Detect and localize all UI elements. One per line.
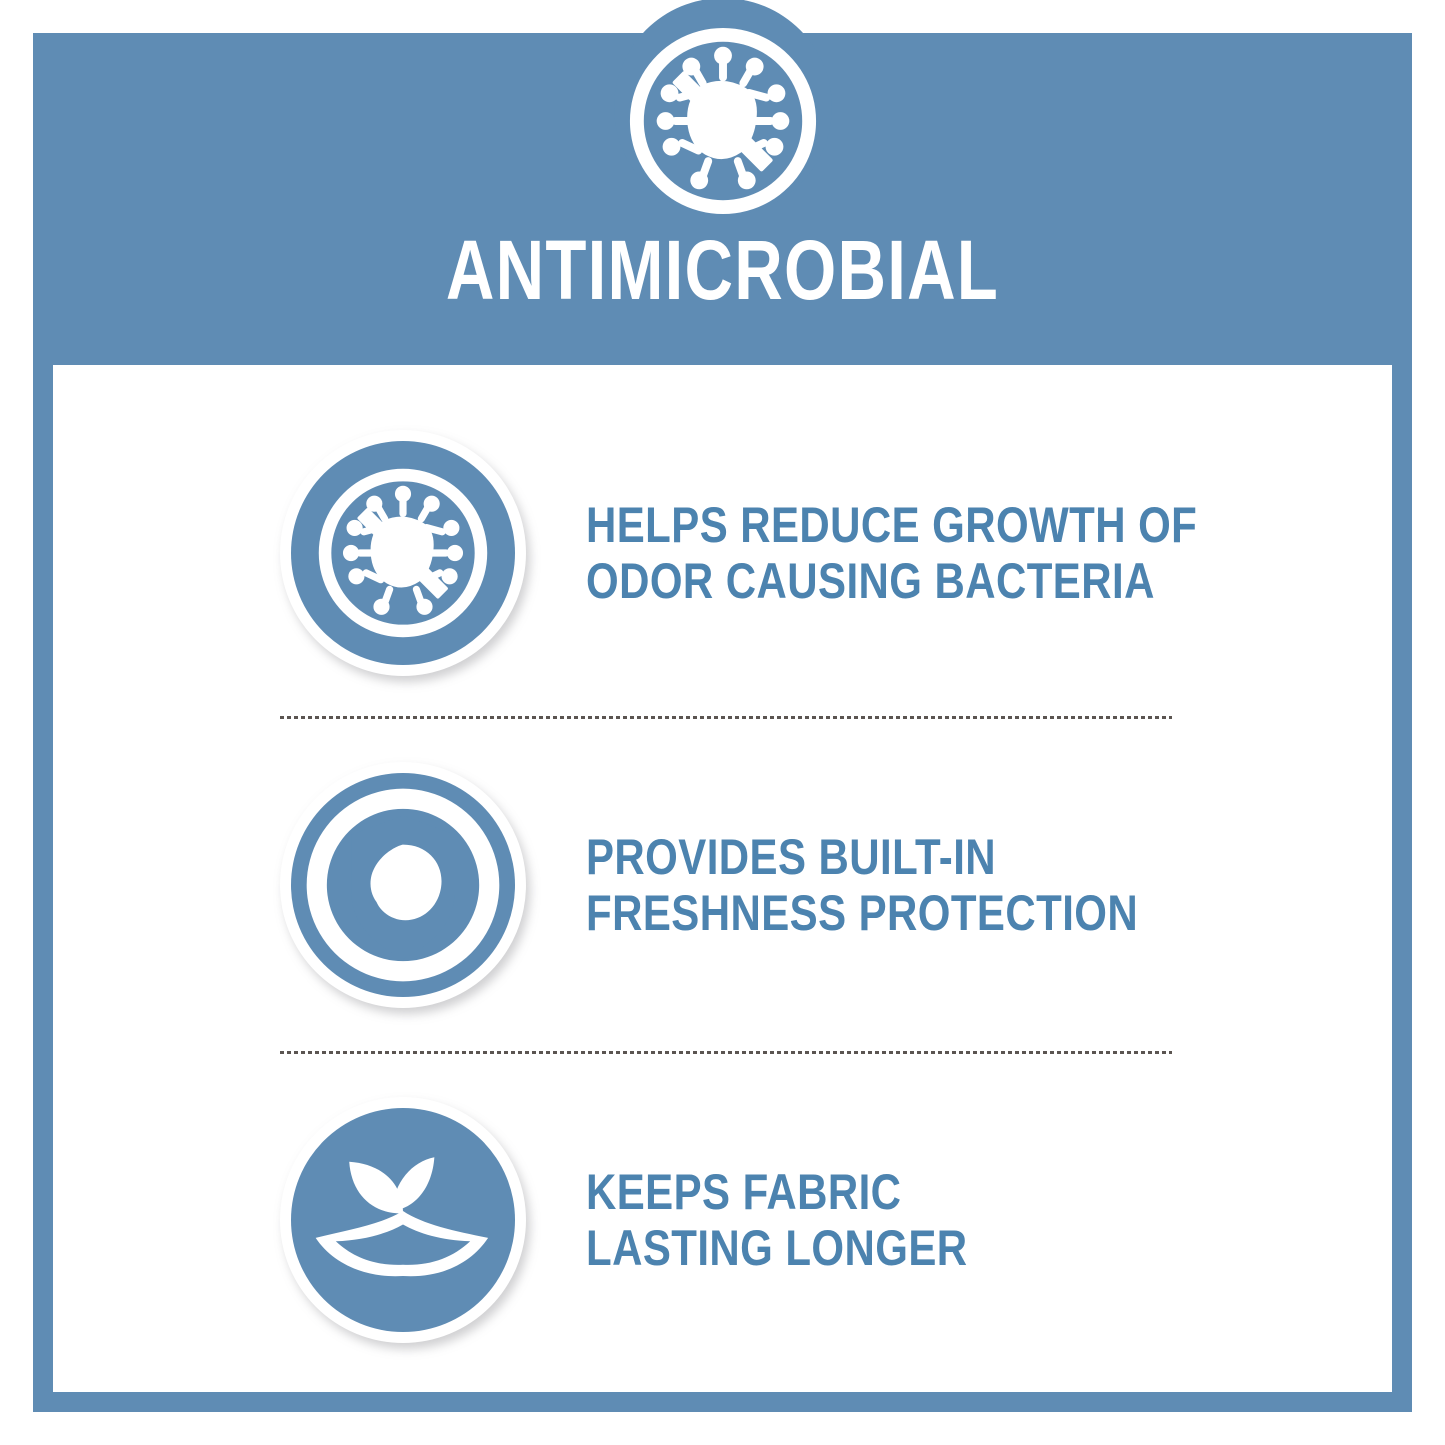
feature-line-2: LASTING LONGER bbox=[586, 1220, 968, 1276]
feature-line-1: KEEPS FABRIC bbox=[586, 1164, 968, 1220]
no-germ-icon bbox=[624, 22, 822, 220]
no-germ-icon bbox=[280, 430, 526, 676]
page-title: ANTIMICROBIAL bbox=[145, 228, 1301, 312]
feature-row: PROVIDES BUILT-IN FRESHNESS PROTECTION bbox=[53, 740, 1392, 1030]
shield-swirl-icon bbox=[280, 762, 526, 1008]
feature-text: HELPS REDUCE GROWTH OF ODOR CAUSING BACT… bbox=[586, 497, 1197, 609]
feature-text: PROVIDES BUILT-IN FRESHNESS PROTECTION bbox=[586, 829, 1138, 941]
feature-row: HELPS REDUCE GROWTH OF ODOR CAUSING BACT… bbox=[53, 408, 1392, 698]
features-panel: HELPS REDUCE GROWTH OF ODOR CAUSING BACT… bbox=[53, 365, 1392, 1392]
features-list: HELPS REDUCE GROWTH OF ODOR CAUSING BACT… bbox=[53, 365, 1392, 1392]
divider bbox=[280, 716, 1172, 719]
feature-line-1: HELPS REDUCE GROWTH OF bbox=[586, 497, 1197, 553]
feature-line-2: FRESHNESS PROTECTION bbox=[586, 885, 1138, 941]
feature-line-1: PROVIDES BUILT-IN bbox=[586, 829, 1138, 885]
feature-line-2: ODOR CAUSING BACTERIA bbox=[586, 553, 1197, 609]
infographic-canvas: ANTIMICROBIAL bbox=[0, 0, 1445, 1445]
feature-row: KEEPS FABRIC LASTING LONGER bbox=[53, 1075, 1392, 1365]
feature-text: KEEPS FABRIC LASTING LONGER bbox=[586, 1164, 968, 1276]
sprout-leaves-icon bbox=[280, 1097, 526, 1343]
divider bbox=[280, 1051, 1172, 1054]
